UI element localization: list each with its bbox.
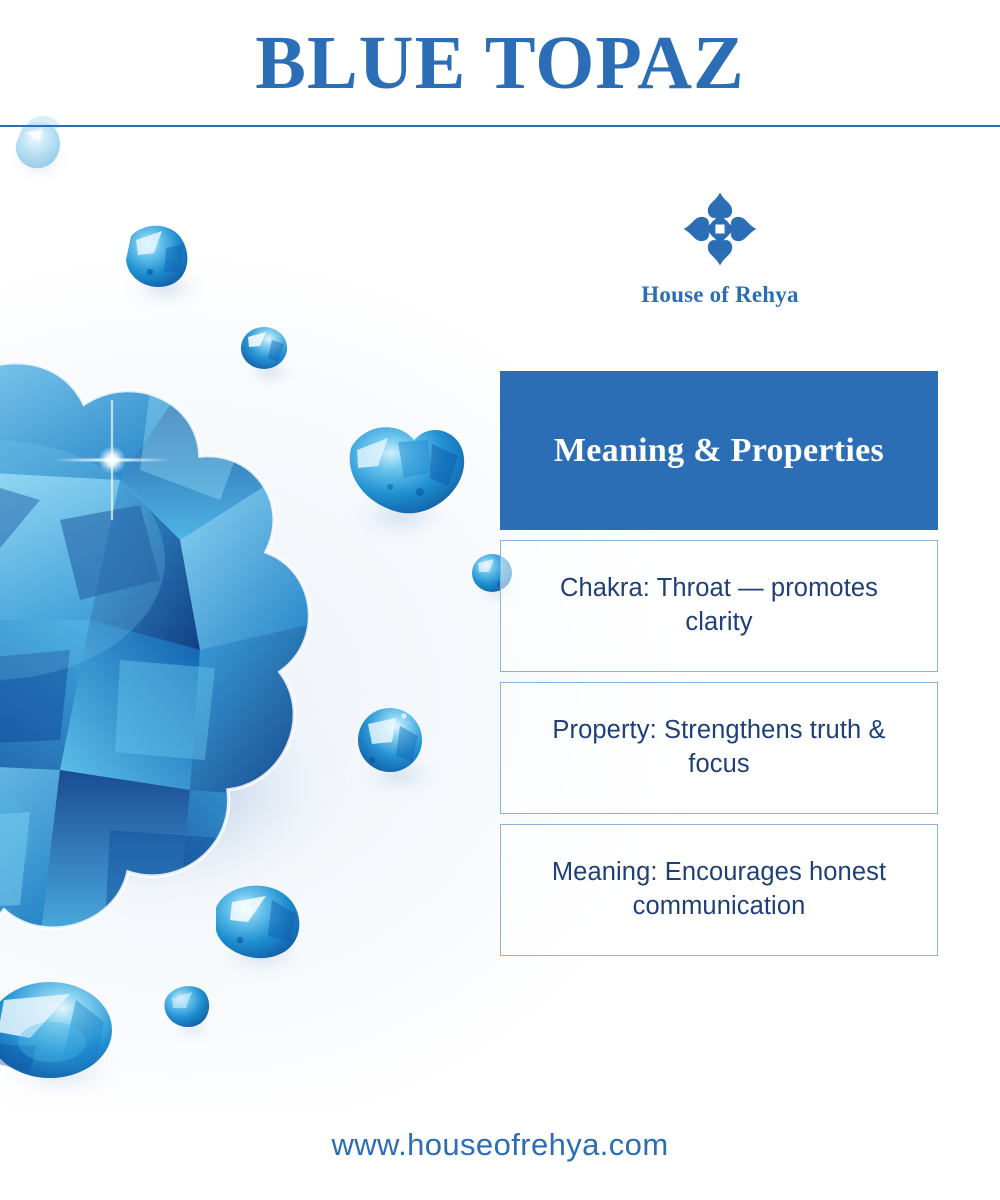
fact-text-property: Property: Strengthens truth & focus: [523, 714, 915, 782]
scatter-gem-4: [348, 427, 464, 537]
poster-header: BLUE TOPAZ: [0, 0, 1000, 126]
scatter-gem-9: [164, 986, 216, 1038]
website-url: www.houseofrehya.com: [331, 1127, 668, 1163]
header-divider: [0, 125, 1000, 127]
fact-box-chakra: Chakra: Throat — promotes clarity: [500, 540, 938, 672]
brand-block: House of Rehya: [500, 190, 940, 308]
scatter-gem-2: [123, 226, 207, 307]
info-panel: Meaning & Properties Chakra: Throat — pr…: [500, 371, 938, 956]
poster-canvas: BLUE TOPAZ: [0, 0, 1000, 1200]
scatter-gem-6: [358, 708, 440, 792]
fact-box-property: Property: Strengthens truth & focus: [500, 682, 938, 814]
scatter-gem-8: [0, 982, 122, 1094]
scatter-gem-3: [241, 327, 296, 385]
fact-box-meaning: Meaning: Encourages honest communication: [500, 824, 938, 956]
fact-text-chakra: Chakra: Throat — promotes clarity: [523, 572, 915, 640]
panel-banner: Meaning & Properties: [500, 371, 938, 530]
panel-banner-label: Meaning & Properties: [554, 432, 884, 470]
page-title: BLUE TOPAZ: [255, 25, 744, 101]
brand-name: House of Rehya: [641, 282, 798, 308]
scatter-gem-7: [216, 886, 306, 973]
quatrefoil-medallion-icon: [682, 190, 758, 268]
poster-footer: www.houseofrehya.com: [0, 1090, 1000, 1200]
fact-text-meaning: Meaning: Encourages honest communication: [523, 856, 915, 924]
scatter-gem-1: [10, 122, 70, 182]
